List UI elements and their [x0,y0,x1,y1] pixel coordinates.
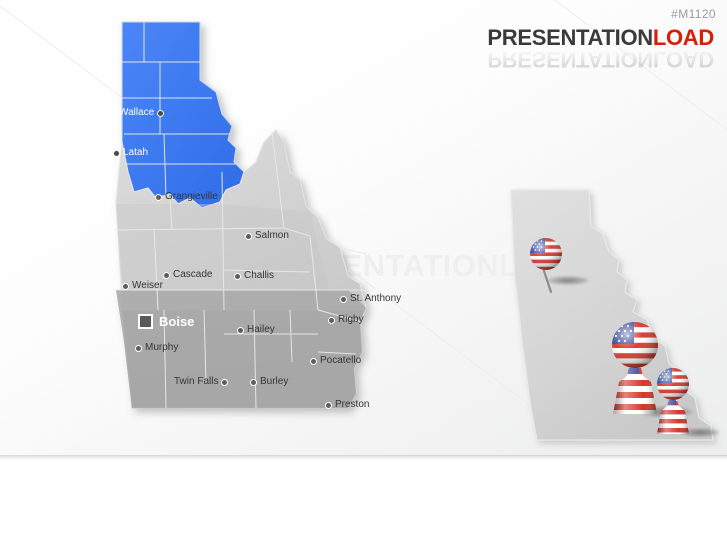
marker-shadow [547,276,589,285]
city-label-murphy[interactable]: Murphy [135,343,178,353]
city-name: Salmon [255,231,289,241]
city-marker-icon [157,110,164,117]
city-marker-icon [234,273,241,280]
city-marker-icon [245,233,252,240]
city-name: Hailey [247,325,275,335]
slide: PRESENTATIONLOAD [0,0,727,545]
footer: Idaho Countys – Karten Set für PowerPoin… [0,460,727,545]
city-name: Murphy [145,343,178,353]
city-marker-icon [250,379,257,386]
flag-game-piece-marker-small[interactable] [652,366,698,446]
city-name: Cascade [173,270,212,280]
city-label-salmon[interactable]: Salmon [245,231,289,241]
city-label-cascade[interactable]: Cascade [163,270,212,280]
city-label-latah[interactable]: Latah [113,148,148,158]
logo-reflection-load: LOAD [653,47,714,72]
city-name: Weiser [132,281,163,291]
city-marker-icon [155,194,162,201]
logo-reflection: PRESENTATIONLOAD [487,46,714,72]
flag-pushpin-marker[interactable] [525,236,575,292]
city-label-pocatello[interactable]: Pocatello [310,356,361,366]
city-marker-icon [113,150,120,157]
city-marker-icon [122,283,129,290]
city-name: Challis [244,271,274,281]
city-marker-icon [237,327,244,334]
city-label-hailey[interactable]: Hailey [237,325,275,335]
city-marker-icon [310,358,317,365]
city-label-preston[interactable]: Preston [325,400,369,410]
city-name: Pocatello [320,356,361,366]
map-stage: PRESENTATIONLOAD [0,0,727,456]
city-marker-icon [328,317,335,324]
city-marker-icon [325,402,332,409]
idaho-outline-map[interactable] [497,168,727,456]
city-name: Grangieville [165,192,218,202]
idaho-counties-map[interactable]: Wallace Latah Grangieville Salmon Cascad… [104,22,404,422]
city-name: Rigby [338,315,364,325]
city-name: Wallace [119,108,154,118]
city-label-twin-falls[interactable]: Twin Falls [174,377,228,387]
city-label-wallace[interactable]: Wallace [119,108,164,118]
capital-label-boise[interactable]: Boise [138,314,194,329]
marker-shadow [680,428,720,437]
logo-reflection-presentation: PRESENTATION [487,47,652,72]
city-marker-icon [221,379,228,386]
city-label-rigby[interactable]: Rigby [328,315,364,325]
city-name: Burley [260,377,288,387]
city-marker-icon [163,272,170,279]
city-marker-icon [340,296,347,303]
city-marker-icon [135,345,142,352]
capital-name: Boise [159,317,194,327]
city-name: Twin Falls [174,377,218,387]
city-name: St. Anthony [350,294,401,304]
city-label-weiser[interactable]: Weiser [122,281,163,291]
city-name: Latah [123,148,148,158]
city-label-grangieville[interactable]: Grangieville [155,192,218,202]
city-label-burley[interactable]: Burley [250,377,288,387]
capital-marker-icon [138,314,153,329]
city-label-st-anthony[interactable]: St. Anthony [340,294,401,304]
item-id-label: #M1120 [671,7,716,21]
city-label-challis[interactable]: Challis [234,271,274,281]
city-name: Preston [335,400,369,410]
